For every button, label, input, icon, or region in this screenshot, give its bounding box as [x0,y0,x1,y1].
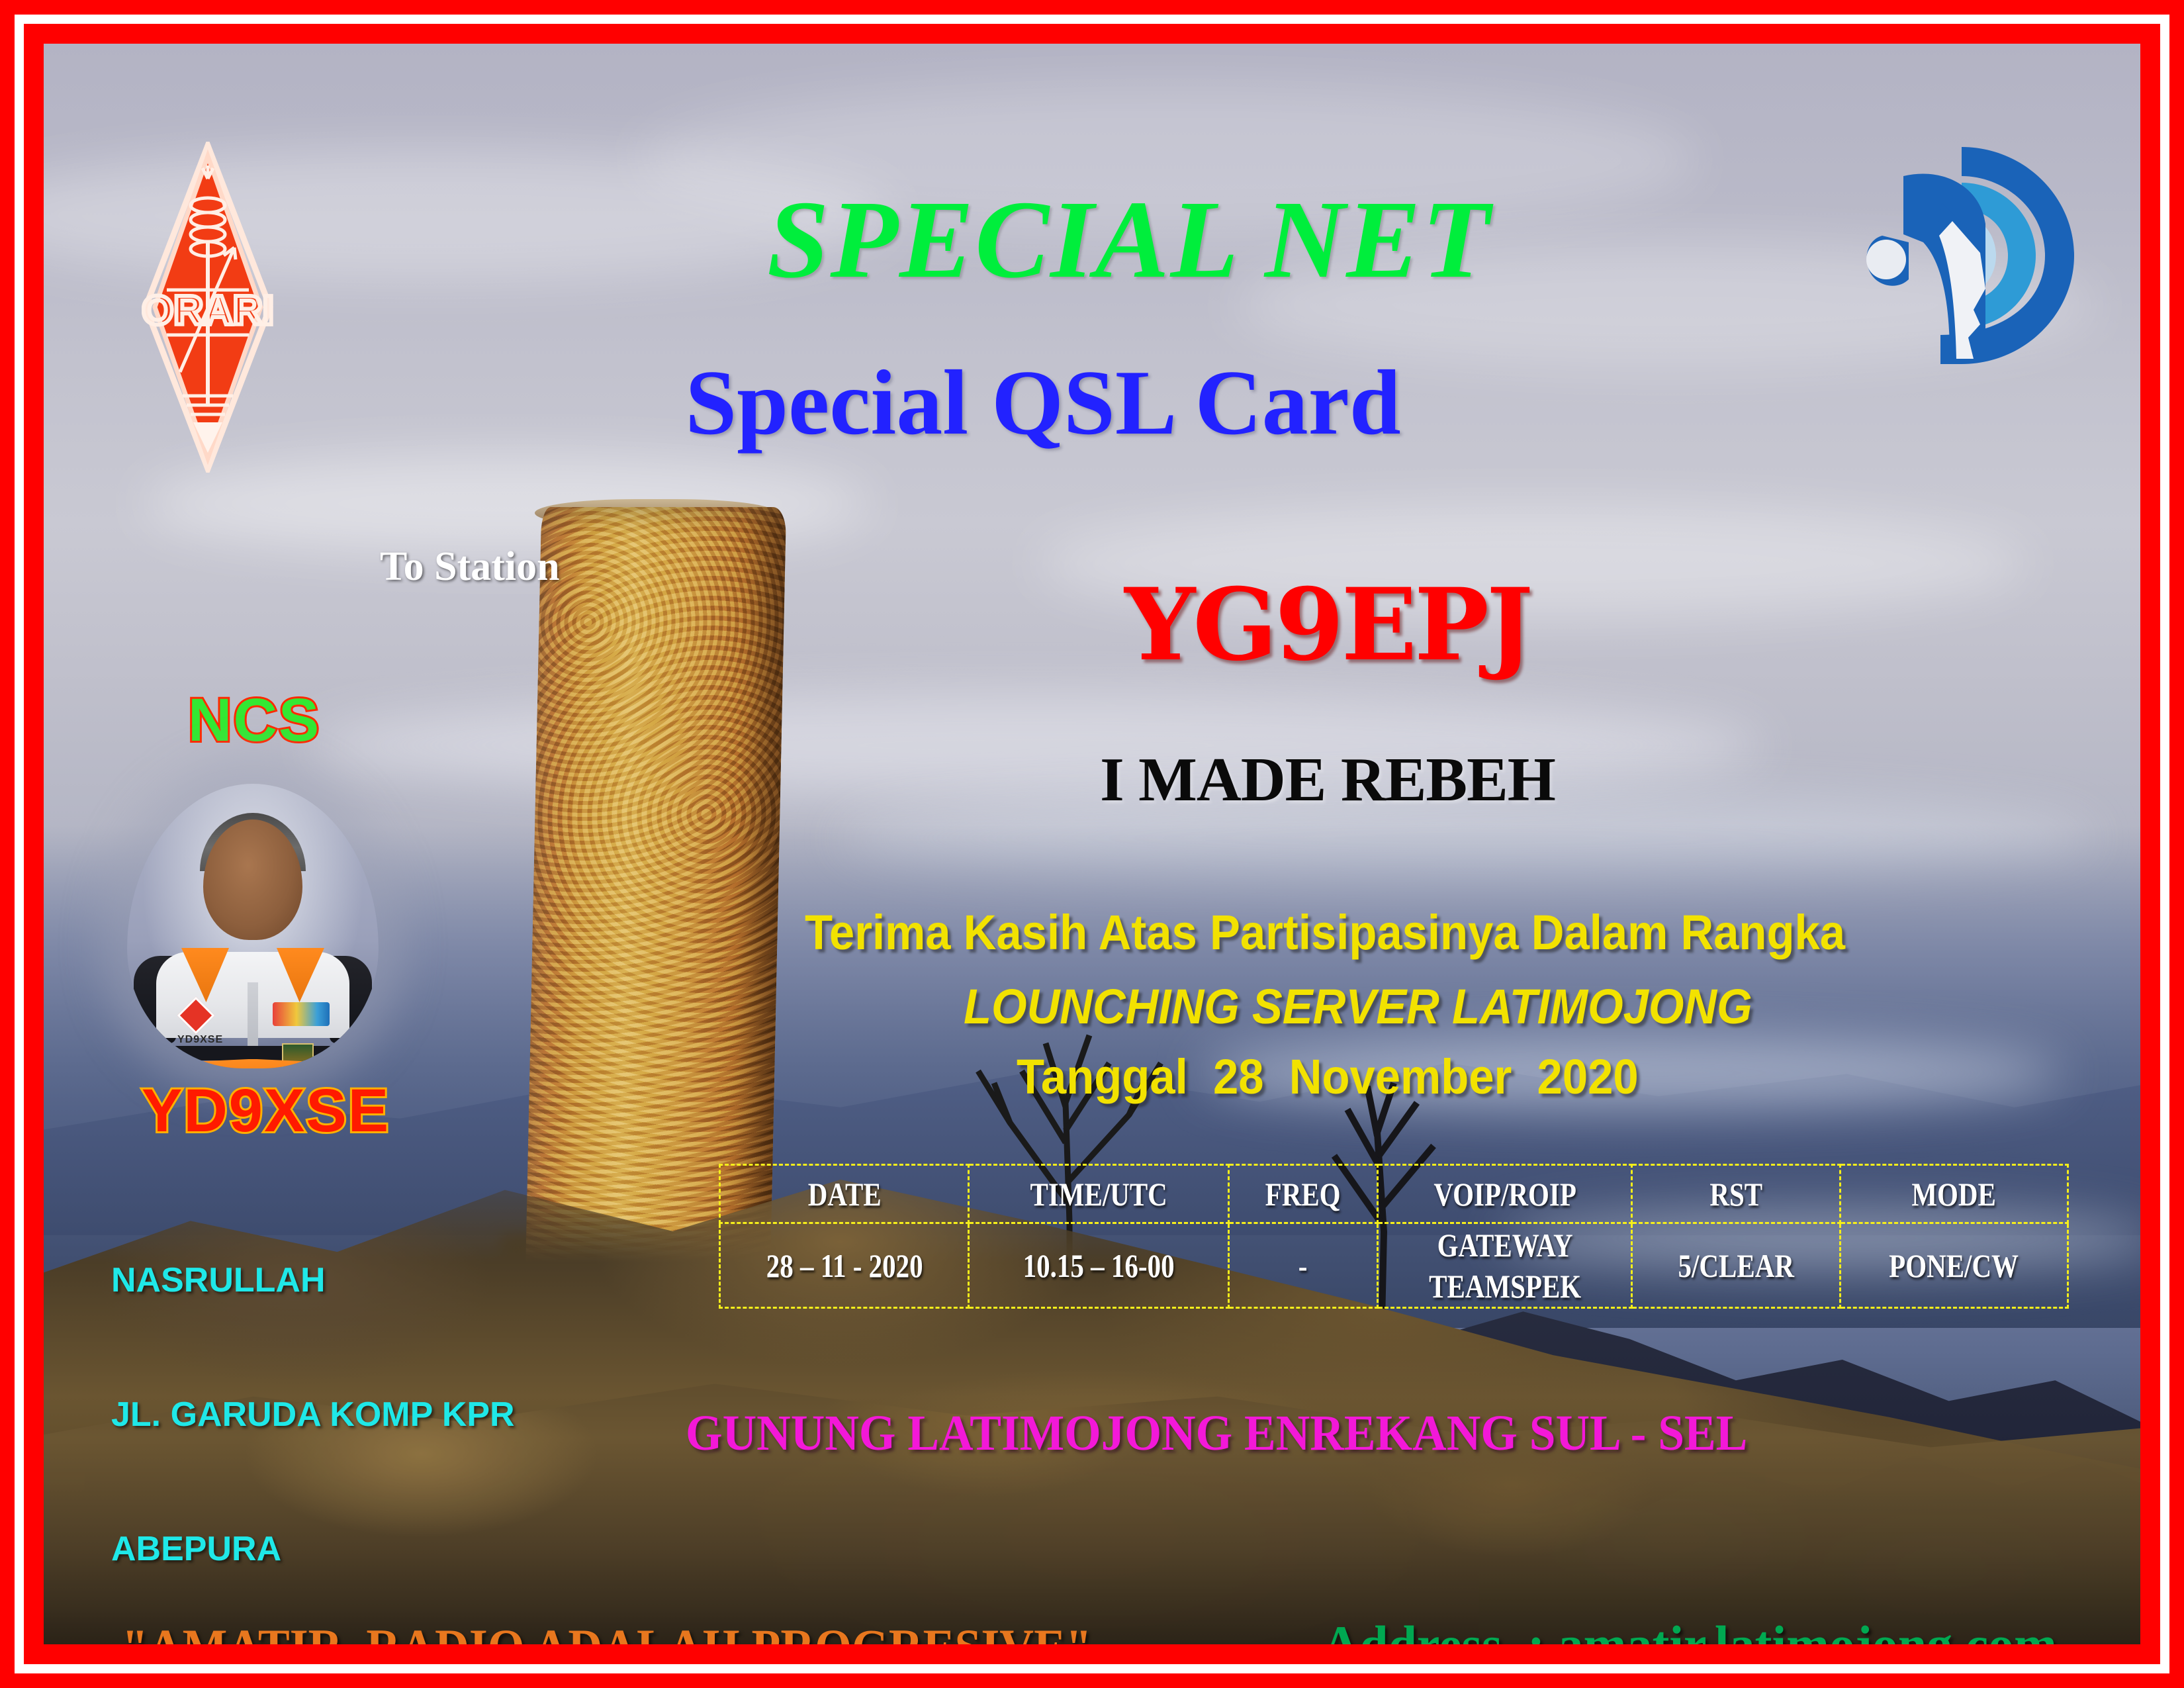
orari-logo: ORARI [142,142,274,473]
cell-time-utc: 10.15 – 16-00 [992,1223,1205,1308]
cell-mode: PONE/CW [1860,1223,2047,1308]
address-line: NASRULLAH [111,1258,644,1303]
photo-uniform: YD9XSE [134,933,372,1068]
cell-voip-roip-line2: TEAMSPEK [1401,1266,1608,1307]
photo-sash [147,1059,359,1068]
photo-uniform-callsign: YD9XSE [177,1034,223,1046]
address-line: JL. GARUDA KOMP KPR [111,1393,644,1438]
card-title-sub: Special QSL Card [414,350,1672,456]
th-freq: FREQ [1242,1165,1365,1223]
event-date-line: Tanggal 28 November 2020 [1017,1049,2001,1105]
return-address-block: NASRULLAH JL. GARUDA KOMP KPR ABEPURA PE… [111,1169,644,1644]
card-content-layer: ORARI SPECIAL NET S [44,44,2140,1644]
event-location: GUNUNG LATIMOJONG ENREKANG SUL - SEL [686,1405,1747,1462]
card-frame-white: ORARI SPECIAL NET S [15,15,2169,1673]
th-mode: MODE [1860,1165,2047,1223]
ncs-callsign: YD9XSE [142,1076,390,1146]
ncs-operator-photo: YD9XSE [127,784,379,1068]
cell-freq: - [1242,1223,1365,1308]
cell-voip-roip-line1: GATEWAY [1401,1225,1608,1266]
photo-shirt-placket [248,982,258,1049]
table-row: 28 – 11 - 2020 10.15 – 16-00 - GATEWAY T… [720,1223,2068,1308]
qsl-card: ORARI SPECIAL NET S [0,0,2184,1688]
cell-voip-roip: GATEWAY TEAMSPEK [1400,1223,1609,1308]
ncs-label: NCS [188,686,320,755]
th-voip-roip: VOIP/ROIP [1400,1165,1609,1223]
event-thanks-line: Terima Kasih Atas Partisipasinya Dalam R… [805,904,1974,961]
event-title-line: LOUNCHING SERVER LATIMOJONG [964,978,1948,1035]
to-station-label: To Station [380,543,560,590]
orari-logo-text: ORARI [142,288,274,334]
card-title-main: SPECIAL NET [500,176,1758,304]
cell-date: 28 – 11 - 2020 [742,1223,946,1308]
photo-belt [156,1046,349,1060]
footer-slogan: "AMATIR RADIO ADALAH PROGRESIVE" [122,1618,1092,1644]
qso-details-table: DATE TIME/UTC FREQ VOIP/ROIP RST MODE 28… [719,1164,2069,1309]
table-header-row: DATE TIME/UTC FREQ VOIP/ROIP RST MODE [720,1165,2068,1223]
footer-website: Address : amatir.latimojong.com [1322,1614,2057,1644]
cell-rst: 5/CLEAR [1651,1223,1821,1308]
address-line: ABEPURA [111,1527,644,1572]
th-date: DATE [742,1165,946,1223]
operator-name: I MADE REBEH [897,744,1758,816]
station-callsign: YG9EPJ [897,567,1758,683]
photo-club-logo-patch [273,1002,330,1026]
th-time-utc: TIME/UTC [992,1165,1205,1223]
card-frame-inner-red: ORARI SPECIAL NET S [24,24,2160,1664]
voip-headset-logo [1862,136,2081,375]
background-mountain-photo: ORARI SPECIAL NET S [44,44,2140,1644]
th-rst: RST [1651,1165,1821,1223]
